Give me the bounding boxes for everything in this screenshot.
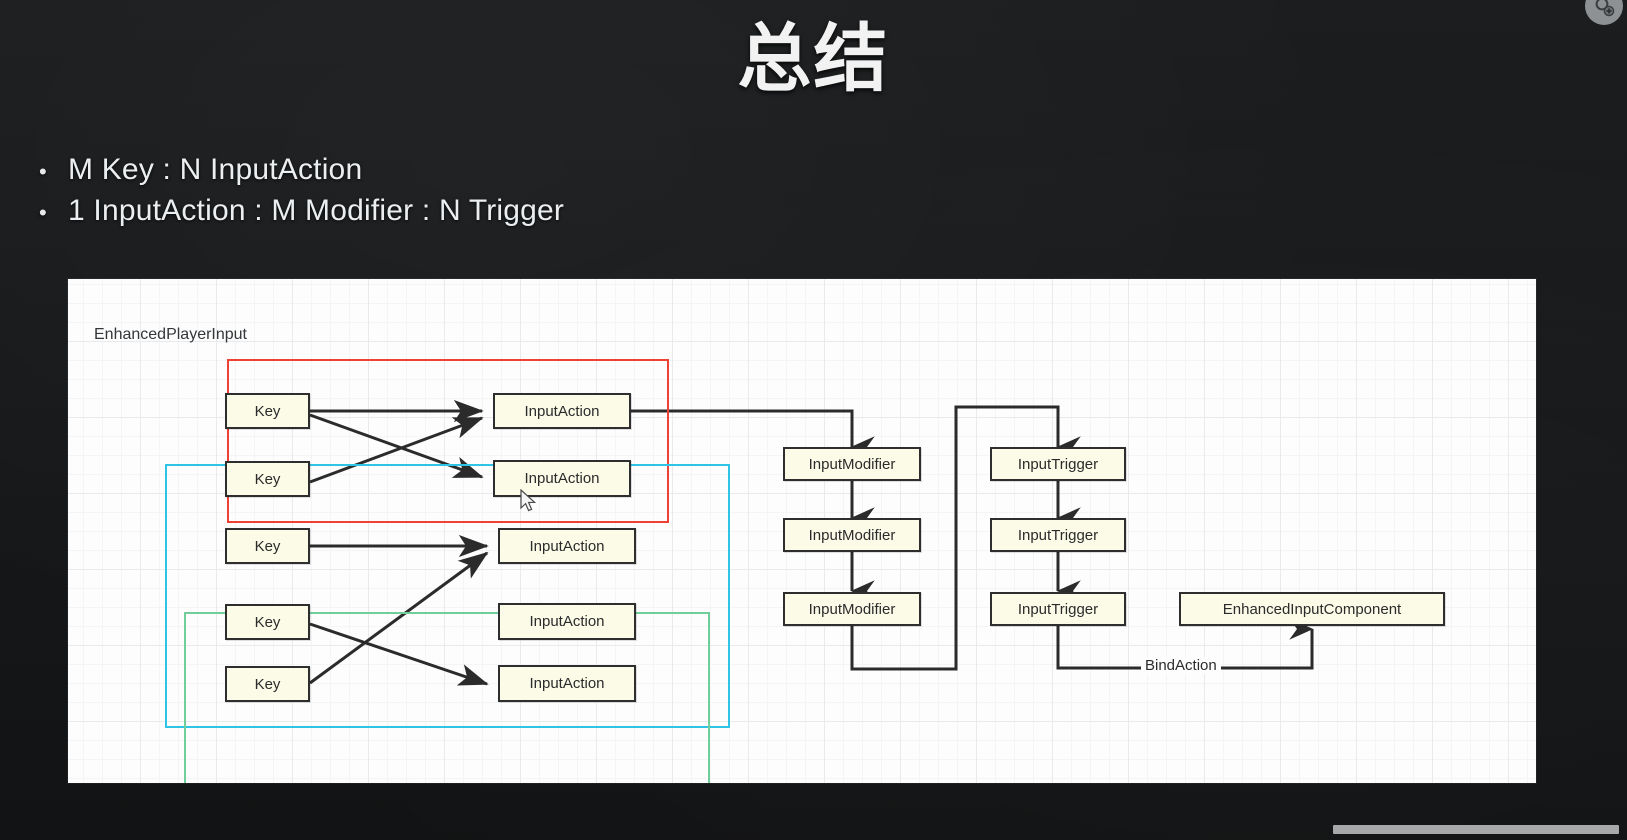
list-item: • 1 InputAction : M Modifier : N Trigger bbox=[18, 191, 564, 232]
node-label: InputAction bbox=[529, 538, 604, 555]
node-label: EnhancedInputComponent bbox=[1223, 601, 1401, 618]
node-label: InputModifier bbox=[809, 527, 896, 544]
node-key-4[interactable]: Key bbox=[225, 604, 310, 640]
node-label: InputAction bbox=[529, 613, 604, 630]
node-input-modifier-2[interactable]: InputModifier bbox=[783, 518, 921, 552]
list-item: • M Key : N InputAction bbox=[18, 150, 564, 191]
scrollbar-thumb[interactable] bbox=[1333, 825, 1619, 834]
mouse-cursor-icon bbox=[519, 489, 539, 515]
node-input-modifier-1[interactable]: InputModifier bbox=[783, 447, 921, 481]
diagram-panel: EnhancedPlayerInput Key Key Key Key Key … bbox=[68, 279, 1536, 783]
node-label: Key bbox=[255, 614, 281, 631]
horizontal-scrollbar[interactable] bbox=[1333, 825, 1619, 834]
bullet-marker-icon: • bbox=[18, 193, 68, 232]
node-label: InputAction bbox=[529, 675, 604, 692]
node-label: InputModifier bbox=[809, 601, 896, 618]
node-label: InputModifier bbox=[809, 456, 896, 473]
node-input-action-1[interactable]: InputAction bbox=[493, 393, 631, 429]
node-label: Key bbox=[255, 676, 281, 693]
page-title: 总结 bbox=[0, 22, 1627, 96]
node-label: Key bbox=[255, 538, 281, 555]
node-input-trigger-2[interactable]: InputTrigger bbox=[990, 518, 1126, 552]
node-input-modifier-3[interactable]: InputModifier bbox=[783, 592, 921, 626]
bullet-list: • M Key : N InputAction • 1 InputAction … bbox=[18, 150, 564, 232]
node-key-3[interactable]: Key bbox=[225, 528, 310, 564]
list-item-label: 1 InputAction : M Modifier : N Trigger bbox=[68, 191, 564, 230]
node-enhanced-input-component[interactable]: EnhancedInputComponent bbox=[1179, 592, 1445, 626]
node-key-2[interactable]: Key bbox=[225, 461, 310, 497]
node-input-action-5[interactable]: InputAction bbox=[498, 665, 636, 702]
node-input-action-2[interactable]: InputAction bbox=[493, 460, 631, 497]
list-item-label: M Key : N InputAction bbox=[68, 150, 362, 189]
node-label: Key bbox=[255, 403, 281, 420]
node-label: InputTrigger bbox=[1018, 527, 1098, 544]
node-label: InputTrigger bbox=[1018, 601, 1098, 618]
node-input-trigger-3[interactable]: InputTrigger bbox=[990, 592, 1126, 626]
zoom-in-glyph bbox=[1593, 0, 1615, 17]
node-label: Key bbox=[255, 471, 281, 488]
node-key-5[interactable]: Key bbox=[225, 666, 310, 702]
edge-label-bind-action: BindAction bbox=[1141, 657, 1221, 674]
diagram-caption: EnhancedPlayerInput bbox=[94, 326, 247, 344]
node-label: InputAction bbox=[524, 403, 599, 420]
node-input-action-4[interactable]: InputAction bbox=[498, 603, 636, 640]
node-key-1[interactable]: Key bbox=[225, 393, 310, 429]
node-label: InputTrigger bbox=[1018, 456, 1098, 473]
node-label: InputAction bbox=[524, 470, 599, 487]
node-input-trigger-1[interactable]: InputTrigger bbox=[990, 447, 1126, 481]
node-input-action-3[interactable]: InputAction bbox=[498, 528, 636, 564]
bullet-marker-icon: • bbox=[18, 152, 68, 191]
